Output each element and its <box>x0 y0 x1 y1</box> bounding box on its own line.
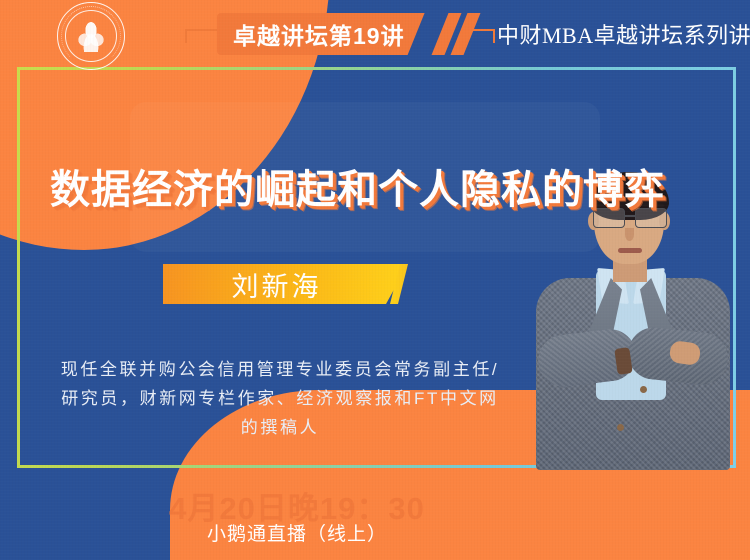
university-seal-icon <box>57 2 125 70</box>
speaker-name-label: 刘新海 <box>232 265 340 304</box>
header-bracket-right <box>471 29 495 43</box>
speaker-name-banner: 刘新海 <box>163 264 408 304</box>
event-platform: 小鹅通直播（线上） <box>0 519 750 546</box>
webinar-poster: 卓越讲坛第19讲 中财MBA卓越讲坛系列讲座 数据经济的崛起和个人隐私的博弈 刘… <box>0 0 750 560</box>
speaker-photo <box>520 172 745 468</box>
event-platform-label: 小鹅通直播（线上） <box>207 524 387 545</box>
page-title: 数据经济的崛起和个人隐私的博弈 <box>50 157 660 215</box>
speaker-bio: 现任全联并购公会信用管理专业委员会常务副主任/研究员，财新网专栏作家、经济观察报… <box>60 355 500 442</box>
lecture-number-tag: 卓越讲坛第19讲 <box>217 13 425 55</box>
series-subtitle: 中财MBA卓越讲坛系列讲座 <box>497 18 750 50</box>
